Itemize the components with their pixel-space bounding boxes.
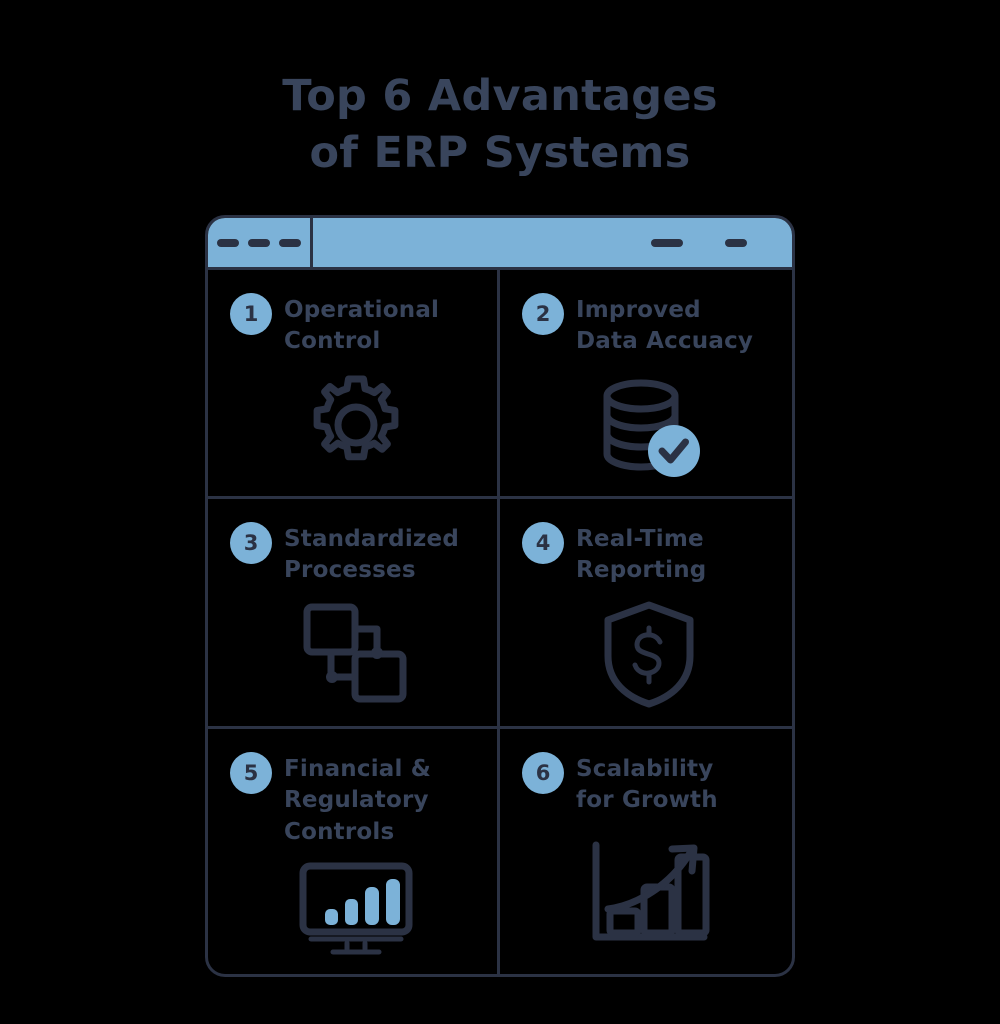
card-title-line-1: Improved xyxy=(576,295,753,326)
shield-dollar-icon xyxy=(596,598,702,710)
chrome-dash-icon xyxy=(651,239,683,247)
browser-window-frame: 1 Operational Control 2 Improved Data Ac… xyxy=(205,215,795,977)
card-illustration xyxy=(230,848,481,964)
card-header: 6 Scalability for Growth xyxy=(522,751,776,817)
card-title-line-2: Control xyxy=(284,326,439,357)
card-title-line-1: Real-Time xyxy=(576,524,706,555)
chrome-dash-icon xyxy=(248,239,270,247)
card-title-line-2: Reporting xyxy=(576,555,706,586)
advantage-card-1[interactable]: 1 Operational Control xyxy=(208,270,500,499)
card-number-badge: 5 xyxy=(230,752,272,794)
card-number-badge: 6 xyxy=(522,752,564,794)
card-title-line-2: Regulatory xyxy=(284,785,431,816)
card-number-badge: 4 xyxy=(522,522,564,564)
monitor-bar-chart-icon xyxy=(295,861,417,957)
card-title-line-1: Operational xyxy=(284,295,439,326)
page-title-line-2: of ERP Systems xyxy=(0,125,1000,182)
page-title: Top 6 Advantages of ERP Systems xyxy=(0,68,1000,182)
card-header: 2 Improved Data Accuacy xyxy=(522,292,776,358)
chrome-left-controls xyxy=(208,218,313,267)
chrome-dash-icon xyxy=(279,239,301,247)
card-title: Standardized Processes xyxy=(284,521,459,587)
card-illustration xyxy=(522,358,776,486)
chrome-dash-icon xyxy=(725,239,747,247)
card-title-line-1: Financial & xyxy=(284,754,431,785)
chrome-dash-icon xyxy=(217,239,239,247)
card-header: 3 Standardized Processes xyxy=(230,521,481,587)
card-title: Operational Control xyxy=(284,292,439,358)
card-title-line-1: Scalability xyxy=(576,754,718,785)
card-header: 4 Real-Time Reporting xyxy=(522,521,776,587)
gear-icon xyxy=(300,369,412,481)
advantage-card-5[interactable]: 5 Financial & Regulatory Controls xyxy=(208,729,500,974)
card-header: 5 Financial & Regulatory Controls xyxy=(230,751,481,848)
advantages-grid: 1 Operational Control 2 Improved Data Ac… xyxy=(208,270,792,974)
card-illustration xyxy=(522,817,776,964)
browser-chrome-bar xyxy=(208,218,792,270)
card-title-line-2: Processes xyxy=(284,555,459,586)
growth-chart-icon xyxy=(586,839,712,947)
card-illustration xyxy=(230,587,481,716)
card-title: Scalability for Growth xyxy=(576,751,718,817)
card-number-badge: 2 xyxy=(522,293,564,335)
advantage-card-6[interactable]: 6 Scalability for Growth xyxy=(500,729,792,974)
database-check-icon xyxy=(589,369,709,481)
flowchart-icon xyxy=(297,599,415,709)
card-title-line-2: Data Accuacy xyxy=(576,326,753,357)
card-header: 1 Operational Control xyxy=(230,292,481,358)
card-title: Real-Time Reporting xyxy=(576,521,706,587)
advantage-card-3[interactable]: 3 Standardized Processes xyxy=(208,499,500,729)
advantage-card-2[interactable]: 2 Improved Data Accuacy xyxy=(500,270,792,499)
card-number-badge: 1 xyxy=(230,293,272,335)
card-illustration xyxy=(230,358,481,486)
card-illustration xyxy=(522,587,776,716)
card-title-line-3: Controls xyxy=(284,817,431,848)
card-title-line-1: Standardized xyxy=(284,524,459,555)
card-title-line-2: for Growth xyxy=(576,785,718,816)
page-title-line-1: Top 6 Advantages xyxy=(0,68,1000,125)
advantage-card-4[interactable]: 4 Real-Time Reporting xyxy=(500,499,792,729)
card-number-badge: 3 xyxy=(230,522,272,564)
chrome-right-controls xyxy=(313,218,792,267)
card-title: Financial & Regulatory Controls xyxy=(284,751,431,848)
card-title: Improved Data Accuacy xyxy=(576,292,753,358)
